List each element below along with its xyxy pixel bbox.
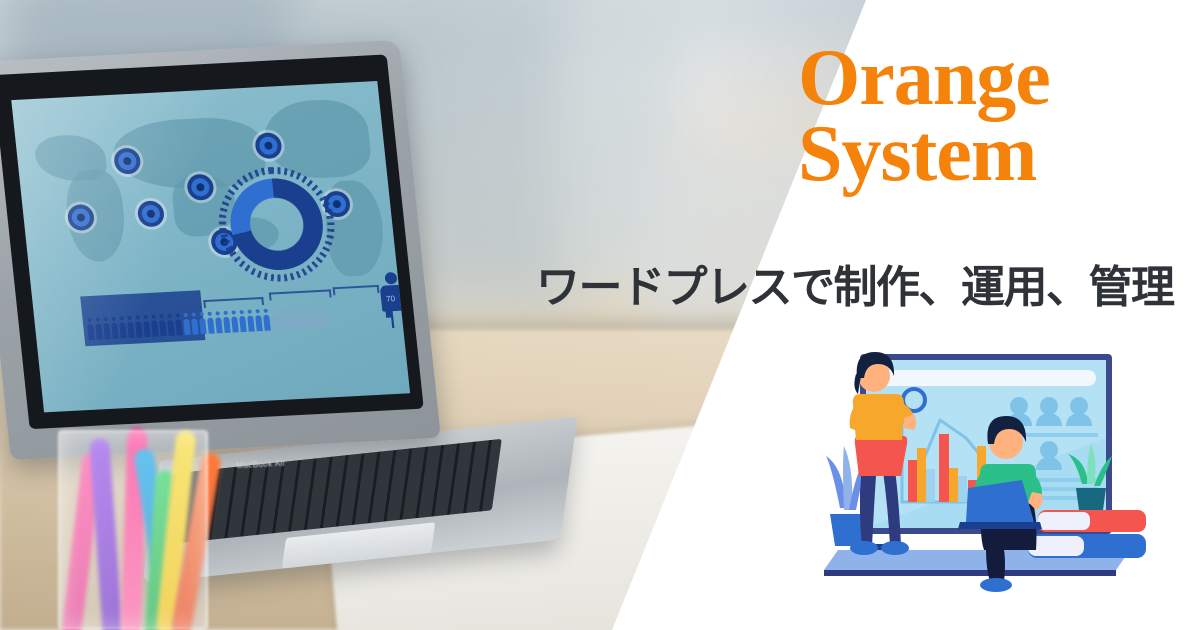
hero-illustration <box>800 338 1150 606</box>
banner-canvas: 70 MacBook Air Orange System ワー <box>0 0 1200 630</box>
brand-logo: Orange System <box>798 40 1158 192</box>
books-stack-illustration <box>1028 510 1146 558</box>
tagline-text: ワードプレスで制作、運用、管理 <box>536 251 1156 315</box>
brand-logo-line1: Orange <box>798 34 1050 122</box>
illustration-svg <box>800 338 1150 606</box>
screen-glare <box>11 81 410 412</box>
browser-url-bar <box>876 370 1096 386</box>
laptop-screen: 70 <box>11 81 410 412</box>
laptop-bezel: 70 <box>0 54 424 429</box>
brand-logo-line2: System <box>798 116 1158 192</box>
pen-cup-glass <box>58 430 208 630</box>
laptop-lid: 70 <box>0 40 441 460</box>
